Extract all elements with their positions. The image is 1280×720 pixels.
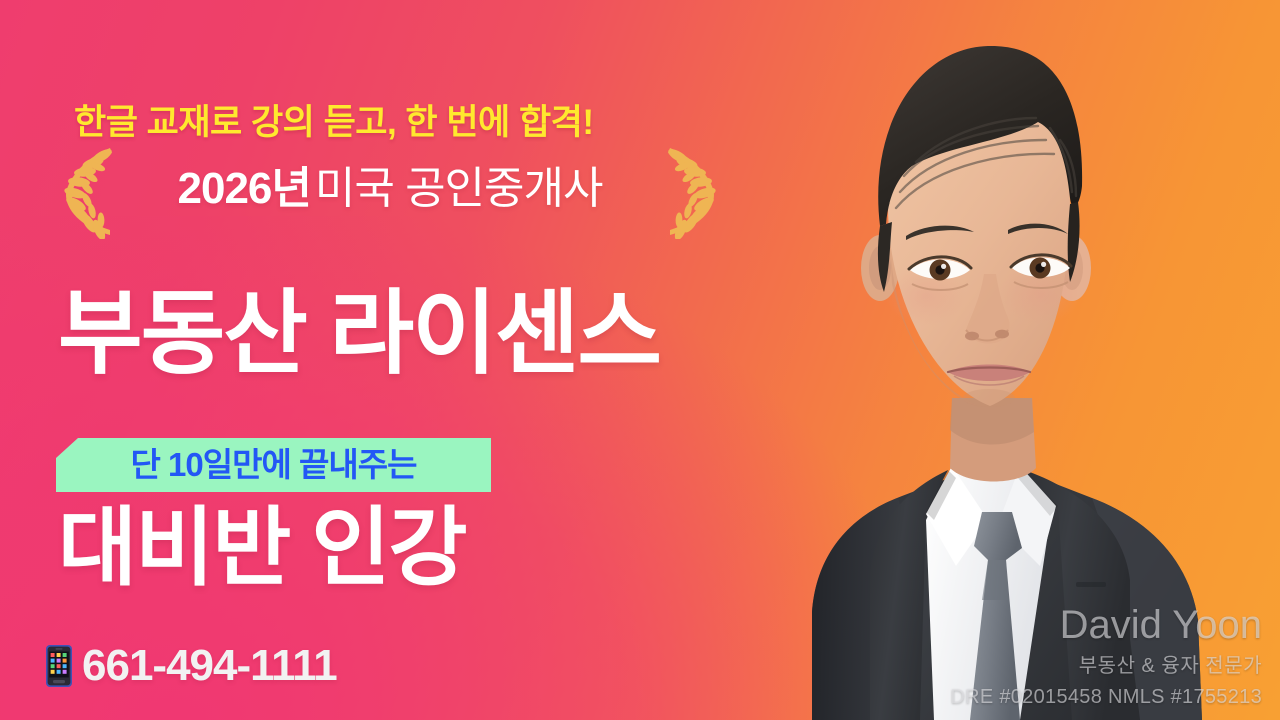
kicker-tagline: 한글 교재로 강의 듣고, 한 번에 합격!	[74, 94, 594, 145]
course-type-headline: 대비반 인강	[58, 505, 466, 591]
mobile-phone-icon	[46, 645, 72, 687]
agent-credentials: David Yoon 부동산 & 융자 전문가 DRE #02015458 NM…	[950, 600, 1262, 712]
award-wreath-row: 2026년미국 공인중개사	[60, 143, 720, 239]
exam-subject: 미국 공인중개사	[315, 164, 603, 213]
laurel-wreath-left-icon	[60, 143, 122, 239]
agent-role: 부동산 & 융자 전문가	[950, 650, 1262, 682]
contact-phone-row[interactable]: 661-494-1111	[46, 638, 337, 694]
exam-year-title: 2026년미국 공인중개사	[122, 151, 658, 227]
promo-text-column: 한글 교재로 강의 듣고, 한 번에 합격!	[0, 0, 790, 720]
main-headline: 부동산 라이센스	[58, 288, 660, 380]
agent-license-numbers: DRE #02015458 NMLS #1755213	[950, 682, 1262, 712]
phone-number[interactable]: 661-494-1111	[82, 644, 337, 688]
exam-year: 2026년	[178, 164, 311, 213]
laurel-wreath-right-icon	[658, 143, 720, 239]
promo-banner: 한글 교재로 강의 듣고, 한 번에 합격!	[0, 0, 1280, 720]
course-duration-badge: 단 10일만에 끝내주는	[56, 438, 491, 492]
course-duration-badge-label: 단 10일만에 끝내주는	[56, 438, 491, 492]
agent-name: David Yoon	[950, 600, 1262, 650]
